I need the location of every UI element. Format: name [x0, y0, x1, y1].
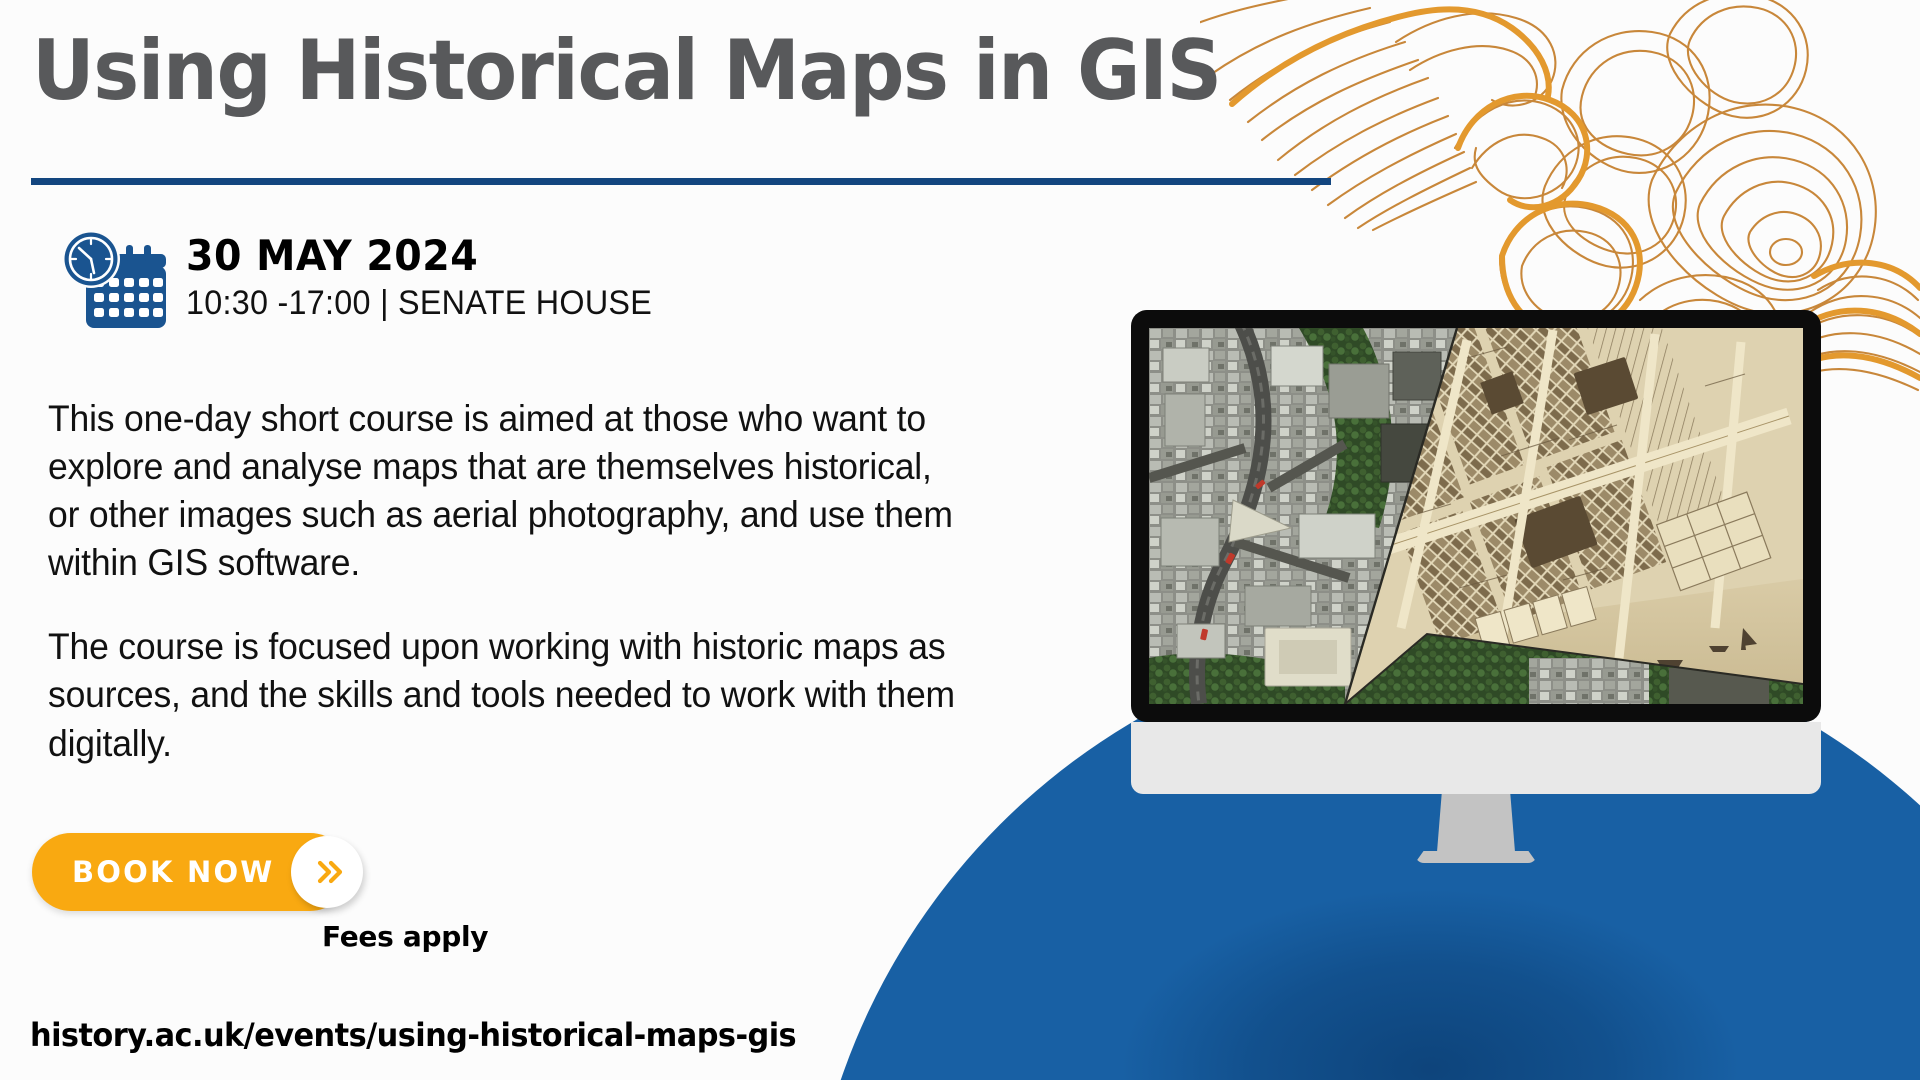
event-date-text: 30 MAY 2024 10:30 -17:00 | SENATE HOUSE [186, 228, 677, 323]
event-url[interactable]: history.ac.uk/events/using-historical-ma… [30, 1016, 796, 1054]
event-time-venue: 10:30 -17:00 | SENATE HOUSE [186, 284, 652, 323]
poster-canvas: Using Historical Maps in GIS [0, 0, 1920, 1080]
book-now-label: BOOK NOW [72, 855, 275, 889]
event-date-block: 30 MAY 2024 10:30 -17:00 | SENATE HOUSE [58, 228, 677, 336]
description-paragraph-2: The course is focused upon working with … [48, 623, 970, 767]
cta-area: BOOK NOW [32, 833, 349, 911]
double-chevron-right-icon [291, 836, 363, 908]
monitor-chin [1131, 722, 1821, 794]
monitor-bezel [1131, 310, 1821, 722]
page-title: Using Historical Maps in GIS [32, 22, 1221, 119]
desktop-monitor-icon [1131, 310, 1821, 863]
monitor-foot [1415, 851, 1537, 863]
course-description: This one-day short course is aimed at th… [48, 395, 1008, 768]
clock-calendar-icon [58, 228, 168, 336]
fees-note: Fees apply [322, 920, 488, 953]
title-underline-rule [31, 178, 1331, 185]
monitor-stand [1131, 722, 1821, 863]
book-now-button[interactable]: BOOK NOW [32, 833, 349, 911]
monitor-screen [1149, 328, 1803, 704]
monitor-neck [1437, 794, 1515, 852]
description-paragraph-1: This one-day short course is aimed at th… [48, 395, 970, 587]
event-date: 30 MAY 2024 [186, 234, 647, 278]
screen-map-comparison [1149, 328, 1803, 704]
